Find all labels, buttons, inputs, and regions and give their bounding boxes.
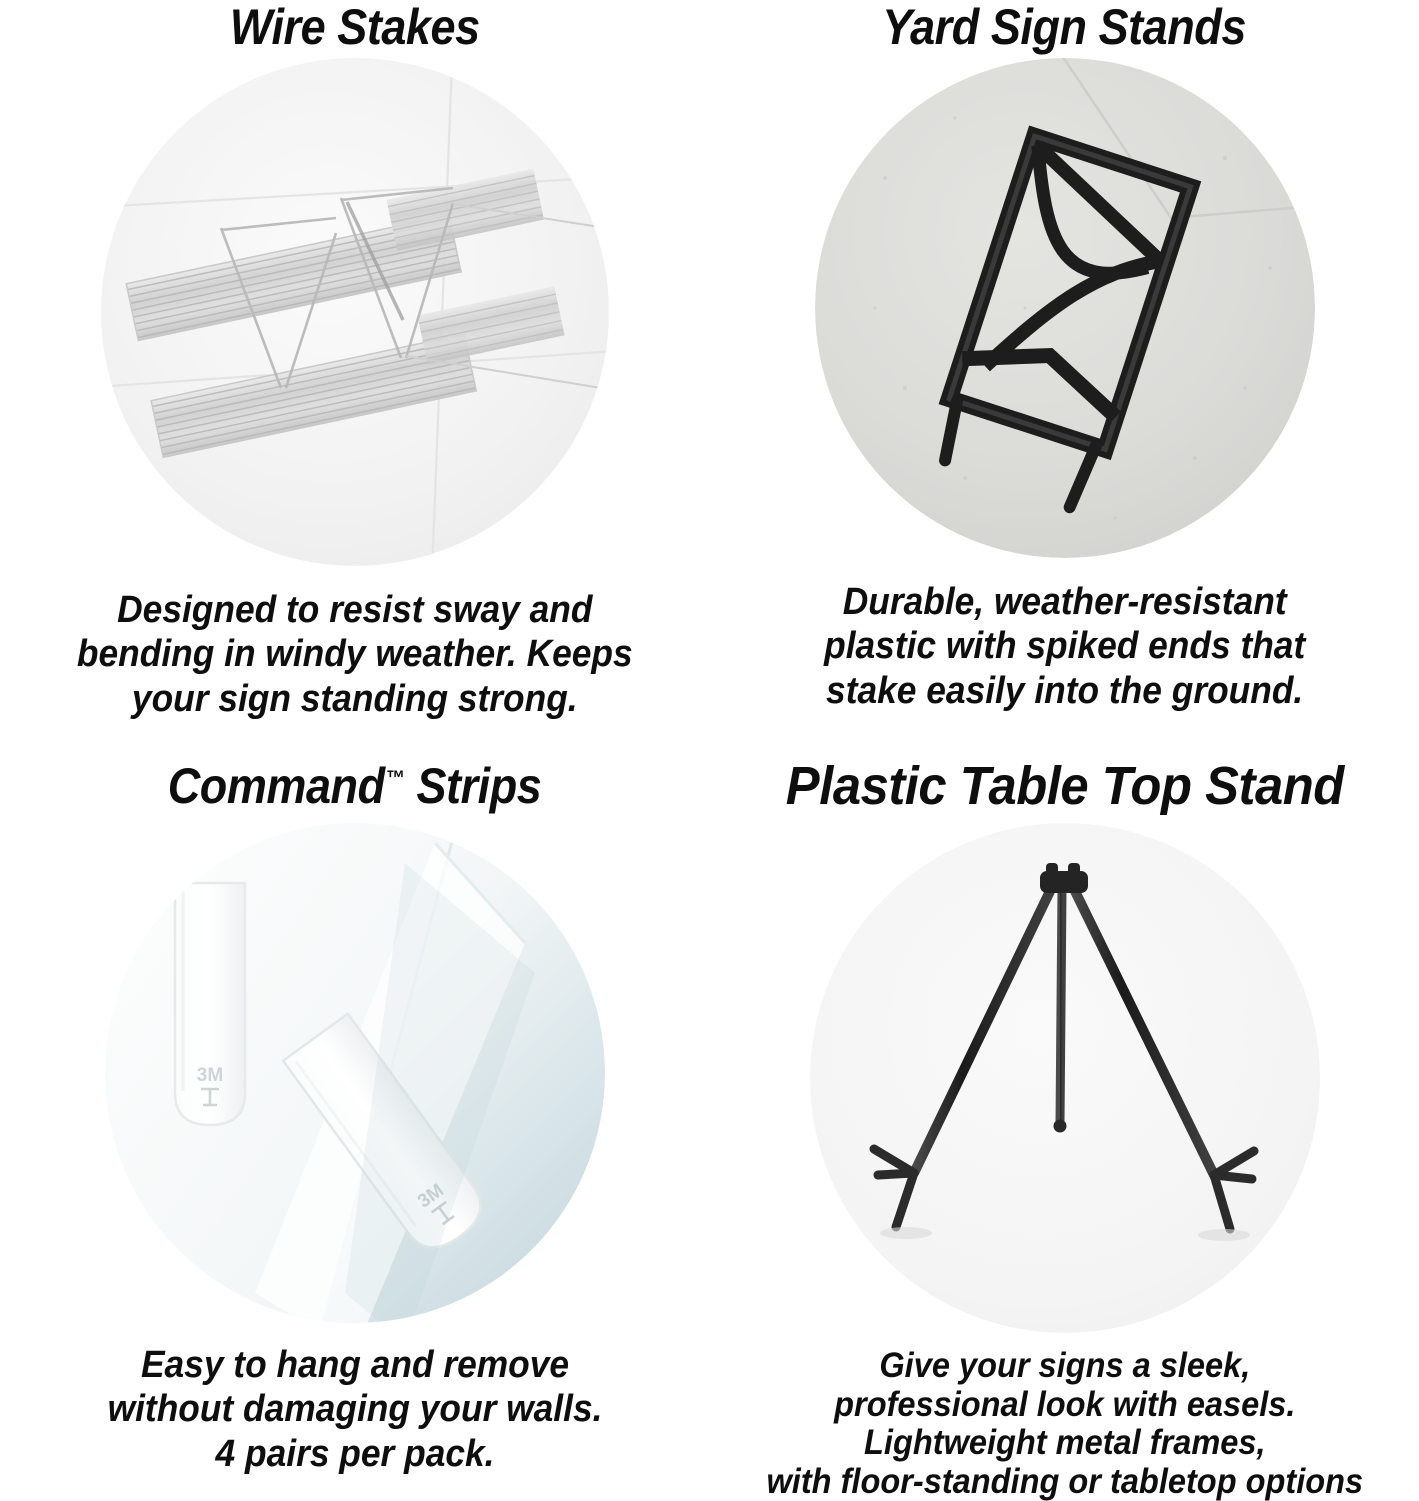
panel-title-strips-word: Strips [405,758,542,814]
panel-title-yard-sign-stands: Yard Sign Stands [883,2,1247,52]
panel-wire-stakes: Wire Stakes [0,0,710,755]
panel-caption-yard-sign-stands: Durable, weather-resistant plastic with … [824,580,1305,713]
panel-title-command-strips: Command™ Strips [168,761,542,811]
svg-text:3M: 3M [197,1065,223,1086]
panel-yard-sign-stands: Yard Sign Stands [710,0,1419,755]
panel-command-strips: Command™ Strips [0,755,710,1500]
wire-stakes-photo [101,58,609,566]
command-strips-photo: 3M 3M [105,823,605,1323]
yard-sign-stand-photo [815,58,1315,558]
table-top-easel-photo [810,823,1320,1333]
panel-caption-plastic-table-top-stand: Give your signs a sleek, professional lo… [766,1347,1363,1501]
feature-grid: Wire Stakes [0,0,1419,1500]
panel-title-command-word: Command [168,758,385,814]
panel-title-wire-stakes: Wire Stakes [230,2,480,52]
panel-caption-wire-stakes: Designed to resist sway and bending in w… [77,588,633,721]
panel-caption-command-strips: Easy to hang and remove without damaging… [108,1343,603,1476]
panel-title-plastic-table-top-stand: Plastic Table Top Stand [785,759,1343,813]
panel-plastic-table-top-stand: Plastic Table Top Stand [710,755,1419,1500]
trademark-symbol: ™ [386,767,405,790]
